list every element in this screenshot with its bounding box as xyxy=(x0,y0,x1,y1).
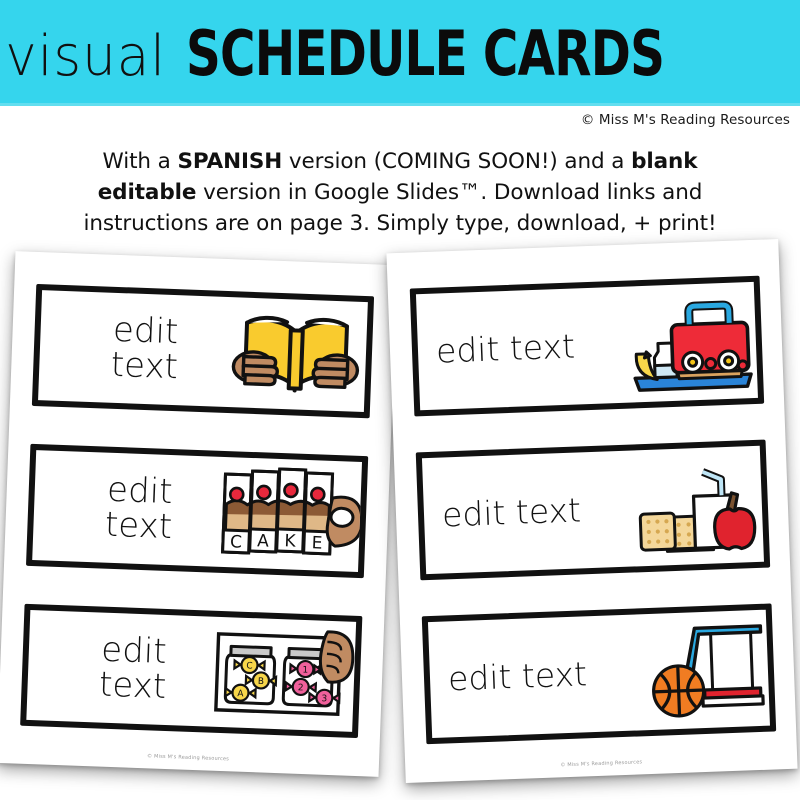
schedule-card-lunch[interactable]: edit text xyxy=(410,276,764,417)
card-label: edit text xyxy=(63,471,215,546)
printable-page-left: edit text xyxy=(0,251,397,777)
schedule-card-reading[interactable]: edit text xyxy=(32,284,374,418)
candy-letter: C xyxy=(246,661,253,671)
desc-editable-emphasis: editable xyxy=(98,180,197,205)
card-label: edit text xyxy=(441,491,638,532)
page-footer: © Miss M's Reading Resources xyxy=(0,748,379,768)
card-label: edit text xyxy=(435,328,632,369)
schedule-card-snack[interactable]: edit text xyxy=(416,440,770,581)
schedule-card-candy-jars[interactable]: edit text xyxy=(20,604,362,738)
puzzle-letter: A xyxy=(257,531,270,551)
cake-word-puzzle-icon: C A K E xyxy=(218,464,361,565)
card-label: edit text xyxy=(69,312,221,387)
desc-line1-c: version (COMING SOON!) and a xyxy=(282,149,631,174)
puzzle-letter: C xyxy=(230,532,243,552)
candy-letter: B xyxy=(258,677,265,687)
recess-playground-icon xyxy=(642,616,766,724)
desc-blank-emphasis: blank xyxy=(631,149,697,174)
candy-number: 3 xyxy=(321,694,327,704)
puzzle-letter: K xyxy=(284,531,297,551)
header-band: visual SCHEDULE CARDS xyxy=(0,0,800,106)
poster-root: visual SCHEDULE CARDS © Miss M's Reading… xyxy=(0,0,800,800)
card-label: edit text xyxy=(57,631,209,706)
page-footer: © Miss M's Reading Resources xyxy=(405,754,797,774)
card-label: edit text xyxy=(447,655,644,696)
copyright-notice: © Miss M's Reading Resources xyxy=(581,112,790,128)
band-bottom-shade xyxy=(0,103,800,106)
reading-book-icon xyxy=(224,304,367,405)
title-word-visual: visual xyxy=(5,24,166,89)
schedule-card-recess[interactable]: edit text xyxy=(422,603,776,744)
page-title: visual SCHEDULE CARDS xyxy=(1,17,799,90)
snack-juice-apple-icon xyxy=(636,452,760,560)
printable-page-right: edit text xyxy=(386,239,797,783)
desc-line1-a: With a xyxy=(103,149,178,174)
candy-number: 1 xyxy=(302,665,308,675)
schedule-card-cake-puzzle[interactable]: edit text xyxy=(26,444,368,578)
desc-line2-b: version in Google Slides™. Download link… xyxy=(196,180,702,205)
candy-jars-icon: C B A xyxy=(212,624,355,725)
desc-spanish-emphasis: SPANISH xyxy=(177,149,282,174)
candy-number: 2 xyxy=(298,683,304,693)
description-text: With a SPANISH version (COMING SOON!) an… xyxy=(18,146,782,239)
lunchbox-icon xyxy=(630,288,754,396)
puzzle-letter: E xyxy=(311,533,322,553)
title-word-schedule-cards: SCHEDULE CARDS xyxy=(186,17,664,90)
desc-line3: instructions are on page 3. Simply type,… xyxy=(84,211,717,236)
